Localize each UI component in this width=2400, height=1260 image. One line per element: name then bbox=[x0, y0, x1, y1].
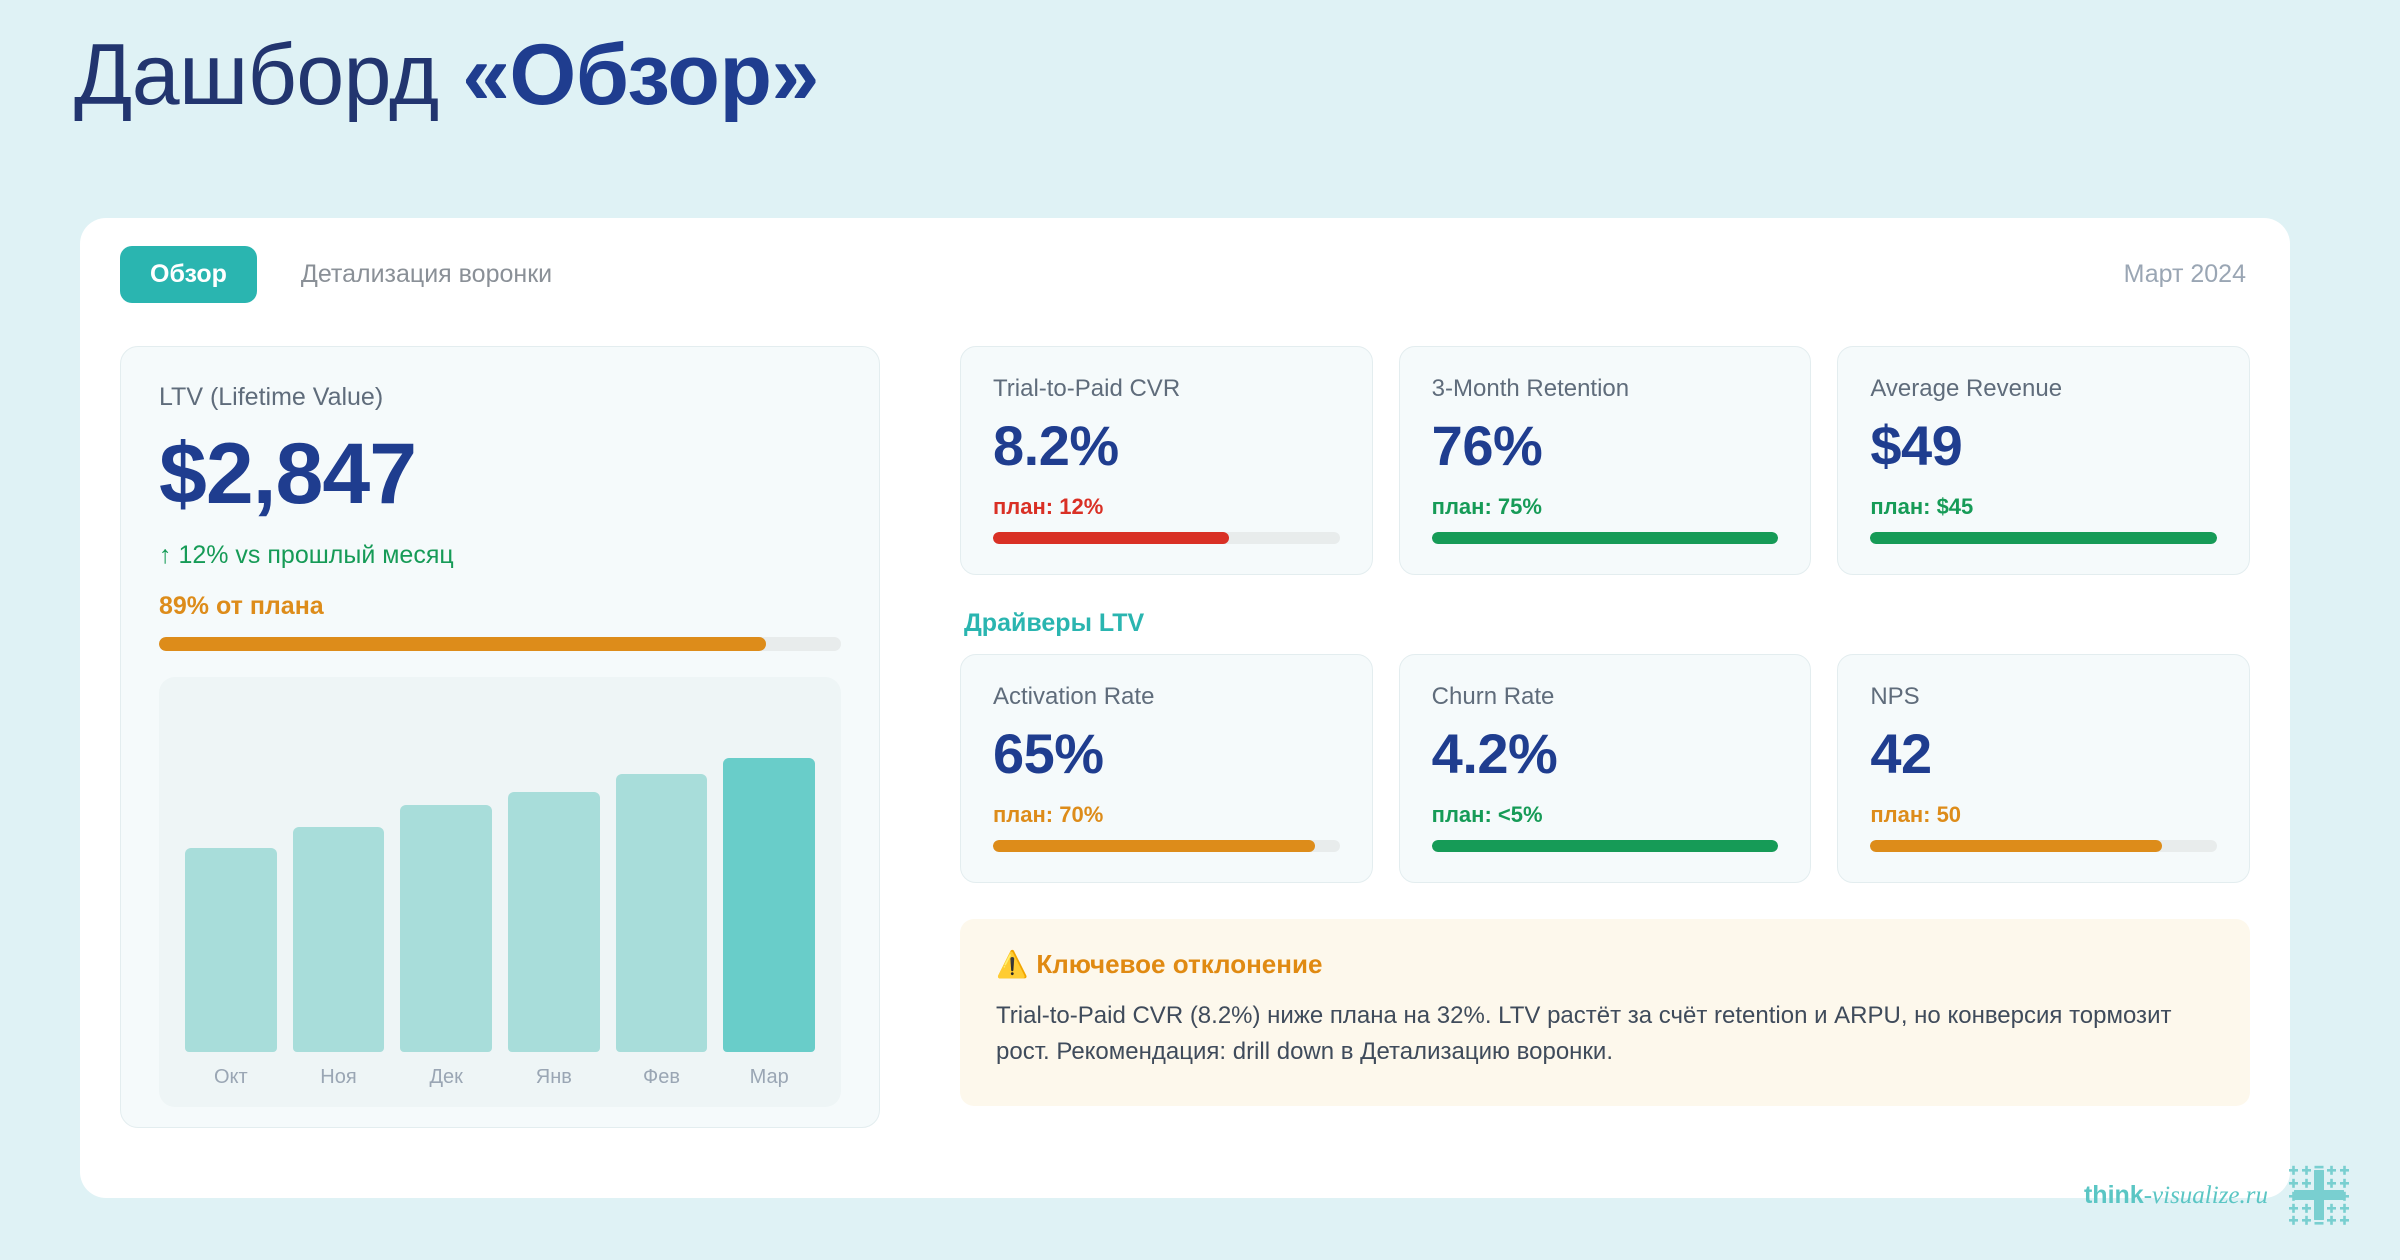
dashboard-page: Дашборд «Обзор» Обзор Детализация воронк… bbox=[0, 0, 2400, 1260]
kpi-plan-label: план: 70% bbox=[993, 802, 1340, 828]
warning-icon: ⚠️ bbox=[996, 949, 1028, 979]
kpi-progress-fill bbox=[993, 840, 1315, 852]
kpi-label: Trial-to-Paid CVR bbox=[993, 375, 1340, 403]
kpi-label: Activation Rate bbox=[993, 683, 1340, 711]
right-column: Trial-to-Paid CVR8.2%план: 12%3-Month Re… bbox=[960, 346, 2250, 1168]
grid-plus-logo-icon bbox=[2286, 1162, 2352, 1228]
period-label: Март 2024 bbox=[2124, 260, 2246, 289]
ltv-value: $2,847 bbox=[159, 428, 841, 521]
kpi-value: 8.2% bbox=[993, 413, 1340, 478]
tab-funnel-detail[interactable]: Детализация воронки bbox=[271, 246, 582, 303]
brand-wordmark: think-visualize.ru bbox=[2084, 1181, 2268, 1210]
kpi-progress-track bbox=[1432, 840, 1779, 852]
kpi-progress-track bbox=[1870, 532, 2217, 544]
kpi-card[interactable]: Churn Rate4.2%план: <5% bbox=[1399, 654, 1812, 883]
main-panel: Обзор Детализация воронки Март 2024 LTV … bbox=[80, 218, 2290, 1198]
tab-overview[interactable]: Обзор bbox=[120, 246, 257, 303]
kpi-card[interactable]: Trial-to-Paid CVR8.2%план: 12% bbox=[960, 346, 1373, 575]
kpi-plan-label: план: <5% bbox=[1432, 802, 1779, 828]
chart-column: Окт bbox=[185, 697, 277, 1107]
kpi-value: 76% bbox=[1432, 413, 1779, 478]
kpi-card[interactable]: 3-Month Retention76%план: 75% bbox=[1399, 346, 1812, 575]
chart-tick-label: Ноя bbox=[293, 1052, 385, 1107]
ltv-label: LTV (Lifetime Value) bbox=[159, 383, 841, 412]
kpi-label: NPS bbox=[1870, 683, 2217, 711]
chart-bar bbox=[616, 774, 708, 1052]
ltv-progress-fill bbox=[159, 637, 766, 651]
kpi-plan-label: план: $45 bbox=[1870, 494, 2217, 520]
chart-bar bbox=[508, 792, 600, 1052]
chart-tick-label: Мар bbox=[723, 1052, 815, 1107]
chart-column: Дек bbox=[400, 697, 492, 1107]
ltv-progress-track bbox=[159, 637, 841, 651]
tab-bar: Обзор Детализация воронки bbox=[120, 246, 582, 303]
left-column: LTV (Lifetime Value) $2,847 ↑ 12% vs про… bbox=[120, 346, 880, 1168]
chart-column: Янв bbox=[508, 697, 600, 1107]
kpi-row-drivers: Activation Rate65%план: 70%Churn Rate4.2… bbox=[960, 654, 2250, 883]
ltv-trend-chart: ОктНояДекЯнвФевМар bbox=[159, 677, 841, 1107]
chart-tick-label: Окт bbox=[185, 1052, 277, 1107]
kpi-progress-fill bbox=[1432, 532, 1779, 544]
kpi-row-top: Trial-to-Paid CVR8.2%план: 12%3-Month Re… bbox=[960, 346, 2250, 575]
kpi-label: 3-Month Retention bbox=[1432, 375, 1779, 403]
page-title-accent: «Обзор» bbox=[462, 27, 819, 123]
chart-column: Ноя bbox=[293, 697, 385, 1107]
kpi-value: $49 bbox=[1870, 413, 2217, 478]
chart-tick-label: Фев bbox=[616, 1052, 708, 1107]
brand-bold: think bbox=[2084, 1181, 2144, 1209]
chart-bar bbox=[723, 758, 815, 1052]
chart-column: Фев bbox=[616, 697, 708, 1107]
kpi-card[interactable]: Average Revenue$49план: $45 bbox=[1837, 346, 2250, 575]
kpi-progress-track bbox=[1432, 532, 1779, 544]
kpi-value: 42 bbox=[1870, 721, 2217, 786]
ltv-card: LTV (Lifetime Value) $2,847 ↑ 12% vs про… bbox=[120, 346, 880, 1128]
kpi-plan-label: план: 50 bbox=[1870, 802, 2217, 828]
ltv-plan-label: 89% от плана bbox=[159, 592, 841, 621]
page-title-main: Дашборд bbox=[74, 27, 462, 123]
brand-italic: -visualize.ru bbox=[2144, 1182, 2268, 1209]
footer: think-visualize.ru bbox=[2084, 1162, 2352, 1228]
kpi-progress-track bbox=[993, 840, 1340, 852]
kpi-label: Average Revenue bbox=[1870, 375, 2217, 403]
chart-column: Мар bbox=[723, 697, 815, 1107]
kpi-value: 4.2% bbox=[1432, 721, 1779, 786]
content-columns: LTV (Lifetime Value) $2,847 ↑ 12% vs про… bbox=[120, 346, 2250, 1168]
kpi-plan-label: план: 75% bbox=[1432, 494, 1779, 520]
ltv-delta: ↑ 12% vs прошлый месяц bbox=[159, 541, 841, 570]
kpi-card[interactable]: Activation Rate65%план: 70% bbox=[960, 654, 1373, 883]
drivers-section-title: Драйверы LTV bbox=[964, 609, 2250, 638]
kpi-value: 65% bbox=[993, 721, 1340, 786]
chart-bar bbox=[400, 805, 492, 1052]
chart-bar bbox=[185, 848, 277, 1052]
kpi-card[interactable]: NPS42план: 50 bbox=[1837, 654, 2250, 883]
kpi-progress-fill bbox=[993, 532, 1229, 544]
kpi-progress-fill bbox=[1870, 532, 2217, 544]
kpi-progress-track bbox=[1870, 840, 2217, 852]
kpi-progress-fill bbox=[1432, 840, 1779, 852]
page-title: Дашборд «Обзор» bbox=[74, 26, 819, 125]
kpi-progress-track bbox=[993, 532, 1340, 544]
kpi-label: Churn Rate bbox=[1432, 683, 1779, 711]
kpi-progress-fill bbox=[1870, 840, 2161, 852]
alert-title: ⚠️Ключевое отклонение bbox=[996, 949, 2214, 980]
chart-tick-label: Дек bbox=[400, 1052, 492, 1107]
chart-bar bbox=[293, 827, 385, 1052]
alert-body: Trial-to-Paid CVR (8.2%) ниже плана на 3… bbox=[996, 998, 2214, 1070]
alert-title-text: Ключевое отклонение bbox=[1036, 949, 1322, 979]
key-deviation-alert: ⚠️Ключевое отклонение Trial-to-Paid CVR … bbox=[960, 919, 2250, 1106]
chart-tick-label: Янв bbox=[508, 1052, 600, 1107]
kpi-plan-label: план: 12% bbox=[993, 494, 1340, 520]
